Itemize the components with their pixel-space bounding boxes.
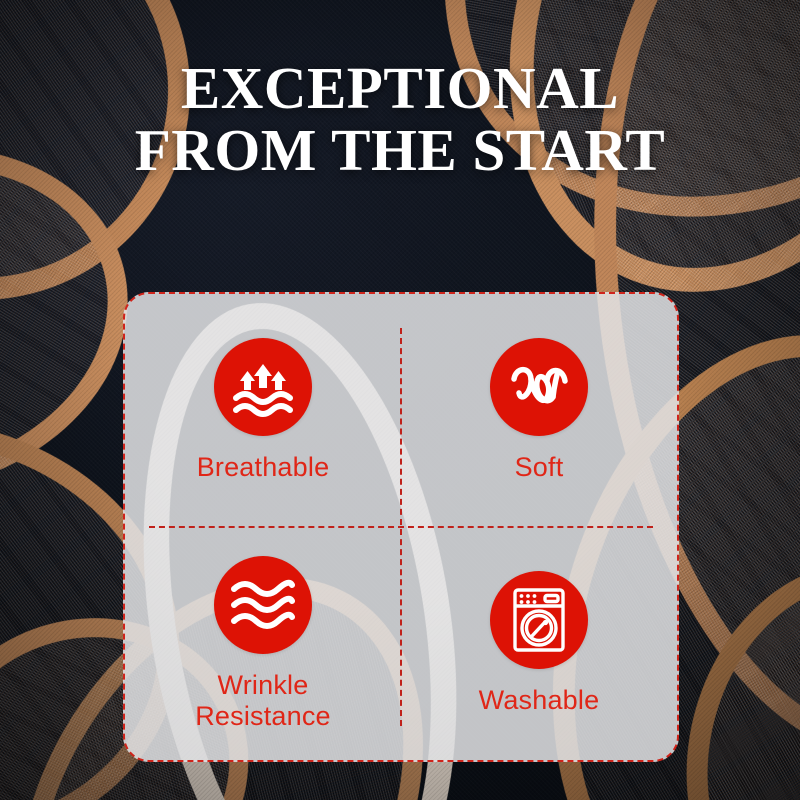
feature-cell-breathable[interactable]: Breathable [125, 294, 401, 527]
wrinkle-waves-icon [214, 556, 312, 654]
washing-machine-icon [490, 571, 588, 669]
feature-label-line-1: Breathable [197, 452, 330, 482]
feature-label-wrinkle-resistance: Wrinkle Resistance [195, 670, 331, 730]
feature-label-line-1: Wrinkle [218, 670, 309, 700]
feature-label-washable: Washable [479, 685, 600, 715]
feature-label-breathable: Breathable [197, 452, 330, 482]
page-title-line-2: FROM THE START [0, 120, 800, 180]
feature-label-soft: Soft [515, 452, 564, 482]
panel-divider-horizontal [149, 526, 653, 528]
page-title-line-1: EXCEPTIONAL [0, 58, 800, 118]
feature-cell-washable[interactable]: Washable [401, 527, 677, 760]
page-title: EXCEPTIONAL FROM THE START [0, 58, 800, 180]
feature-label-line-1: Soft [515, 452, 564, 482]
feature-cell-soft[interactable]: Soft [401, 294, 677, 527]
breathable-arrows-waves-icon [214, 338, 312, 436]
feature-label-line-2: Resistance [195, 701, 331, 731]
feature-label-line-1: Washable [479, 685, 600, 715]
soft-yarn-squiggle-icon [490, 338, 588, 436]
feature-cell-wrinkle-resistance[interactable]: Wrinkle Resistance [125, 527, 401, 760]
poster-canvas: EXCEPTIONAL FROM THE START [0, 0, 800, 800]
feature-panel: Breathable Soft [123, 292, 679, 762]
